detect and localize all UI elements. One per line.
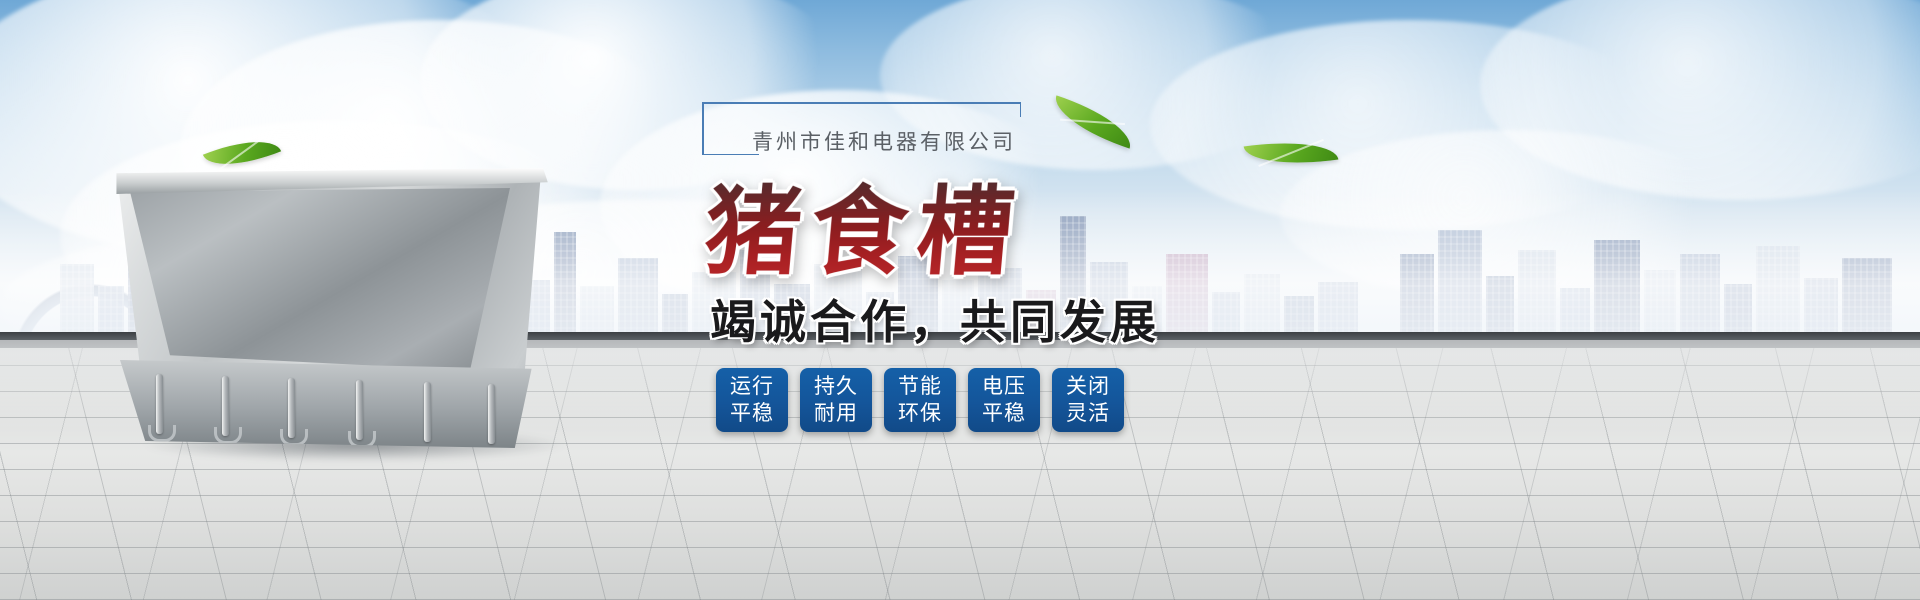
feature-badge-list: 运行 平稳 持久 耐用 节能 环保 电压 平稳 关闭 灵活 — [716, 368, 1124, 432]
feature-badge[interactable]: 节能 环保 — [884, 368, 956, 432]
badge-line-2: 平稳 — [730, 400, 774, 427]
frame-top-line — [703, 103, 1021, 104]
frame-left-line — [703, 103, 704, 155]
banner-text-block: 青州市佳和电器有限公司 猪食槽 竭诚合作，共同发展 运行 平稳 持久 耐用 节能… — [690, 96, 1250, 566]
drinker-hook — [148, 425, 176, 442]
feature-badge[interactable]: 持久 耐用 — [800, 368, 872, 432]
trough-front-panel — [120, 360, 540, 448]
badge-line-1: 关闭 — [1066, 373, 1110, 400]
page-title: 猪食槽 — [700, 154, 1030, 293]
feature-badge[interactable]: 运行 平稳 — [716, 368, 788, 432]
frame-right-line — [1020, 103, 1021, 117]
badge-line-1: 电压 — [982, 373, 1026, 400]
badge-line-2: 平稳 — [982, 400, 1026, 427]
feature-badge[interactable]: 电压 平稳 — [968, 368, 1040, 432]
badge-line-1: 节能 — [898, 373, 942, 400]
badge-line-2: 灵活 — [1066, 400, 1110, 427]
company-name: 青州市佳和电器有限公司 — [752, 126, 1016, 156]
badge-line-1: 运行 — [730, 373, 774, 400]
feature-badge[interactable]: 关闭 灵活 — [1052, 368, 1124, 432]
divider-bar — [488, 384, 495, 444]
drinker-hook — [214, 427, 242, 444]
badge-line-2: 耐用 — [814, 400, 858, 427]
product-feed-trough — [80, 160, 600, 460]
banner-subtitle: 竭诚合作，共同发展 — [710, 286, 1160, 352]
trough-interior — [118, 188, 518, 378]
divider-bar — [424, 382, 431, 442]
badge-line-2: 环保 — [898, 400, 942, 427]
badge-line-1: 持久 — [814, 373, 858, 400]
drinker-hook — [280, 429, 308, 446]
promo-banner: 青州市佳和电器有限公司 猪食槽 竭诚合作，共同发展 运行 平稳 持久 耐用 节能… — [0, 0, 1920, 600]
